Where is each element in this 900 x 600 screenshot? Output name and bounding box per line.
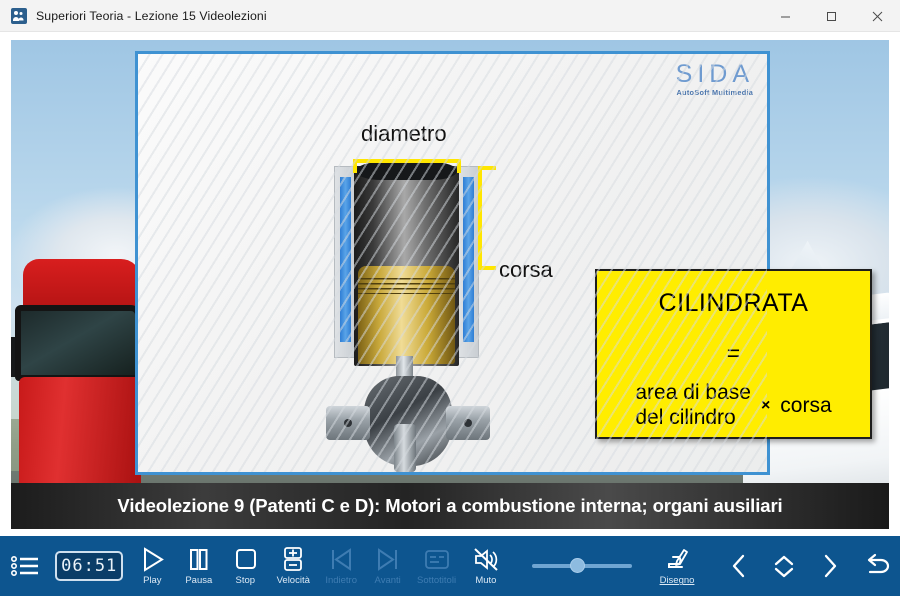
speed-button[interactable]: Velocità: [269, 536, 318, 596]
engine-cylinder-diagram: [334, 166, 484, 466]
mute-button[interactable]: Muto: [462, 536, 509, 596]
volume-slider[interactable]: [532, 536, 632, 596]
chevron-updown-icon: [770, 552, 798, 580]
menu-button[interactable]: [0, 536, 49, 596]
slide-canvas[interactable]: SIDA AutoSoft Multimedia diametro corsa: [11, 40, 889, 529]
timer-value: 06:51: [55, 551, 123, 581]
label-diametro: diametro: [361, 121, 447, 147]
sida-logo: SIDA AutoSoft Multimedia: [676, 62, 754, 96]
draw-label-text: Disegno: [660, 575, 695, 586]
chevron-right-icon: [818, 552, 842, 580]
stroke-measure-bracket: [478, 166, 496, 270]
draw-button[interactable]: Disegno: [651, 536, 702, 596]
play-button[interactable]: Play: [129, 536, 176, 596]
formula-left-line2: del cilindro: [635, 406, 751, 431]
prev-track-icon: [328, 546, 355, 573]
window-title: Superiori Teoria - Lezione 15 Videolezio…: [36, 9, 267, 23]
speed-label: Velocità: [277, 576, 310, 586]
play-icon: [139, 546, 166, 573]
label-corsa: corsa: [499, 257, 553, 283]
minimize-button[interactable]: [762, 0, 808, 32]
mute-icon: [472, 546, 500, 573]
maximize-button[interactable]: [808, 0, 854, 32]
previous-label: Indietro: [325, 576, 357, 586]
chevron-left-icon: [727, 552, 751, 580]
draw-label: Disegno: [660, 576, 695, 586]
app-icon: [11, 8, 27, 24]
video-stage: SIDA AutoSoft Multimedia diametro corsa: [0, 32, 900, 532]
play-label: Play: [143, 576, 161, 586]
formula-multiply: ×: [761, 397, 770, 415]
close-button[interactable]: [854, 0, 900, 32]
formula-equals: =: [597, 340, 870, 367]
slide-index-button[interactable]: [761, 536, 807, 596]
formula-right: corsa: [780, 394, 831, 418]
formula-box: CILINDRATA = area di base del cilindro ×…: [595, 269, 872, 439]
previous-slide-button[interactable]: [716, 536, 762, 596]
next-label: Avanti: [375, 576, 401, 586]
content-panel: SIDA AutoSoft Multimedia diametro corsa: [135, 51, 770, 475]
timer-display: 06:51: [49, 536, 129, 596]
return-arrow-icon: [860, 552, 892, 580]
player-toolbar: 06:51 Play Pausa Stop: [0, 536, 900, 596]
pause-button[interactable]: Pausa: [176, 536, 223, 596]
stop-label: Stop: [236, 576, 256, 586]
next-button[interactable]: Avanti: [364, 536, 411, 596]
window-controls: [762, 0, 900, 32]
pen-draw-icon: [662, 546, 692, 573]
list-menu-icon: [11, 555, 39, 577]
volume-knob[interactable]: [570, 558, 585, 573]
logo-subtitle: AutoSoft Multimedia: [676, 89, 754, 96]
slide-caption-bar: Videolezione 9 (Patenti C e D): Motori a…: [11, 483, 889, 529]
pause-label: Pausa: [185, 576, 212, 586]
speed-icon: [281, 546, 305, 573]
slide-caption-text: Videolezione 9 (Patenti C e D): Motori a…: [117, 495, 782, 517]
stop-icon: [232, 546, 259, 573]
logo-mark: SIDA: [676, 62, 754, 87]
stop-button[interactable]: Stop: [222, 536, 269, 596]
exit-back-button[interactable]: [853, 536, 900, 596]
red-truck-image: [11, 259, 141, 509]
diameter-measure-bracket: [353, 159, 461, 173]
subtitles-icon: [423, 546, 451, 573]
mute-label: Muto: [475, 576, 496, 586]
previous-button[interactable]: Indietro: [318, 536, 365, 596]
subtitles-label: Sottotitoli: [417, 576, 456, 586]
subtitles-button[interactable]: Sottotitoli: [411, 536, 462, 596]
next-slide-button[interactable]: [807, 536, 853, 596]
next-track-icon: [374, 546, 401, 573]
title-bar: Superiori Teoria - Lezione 15 Videolezio…: [0, 0, 900, 32]
pause-icon: [185, 546, 212, 573]
formula-left-line1: area di base: [635, 381, 751, 406]
formula-title: CILINDRATA: [597, 289, 870, 318]
